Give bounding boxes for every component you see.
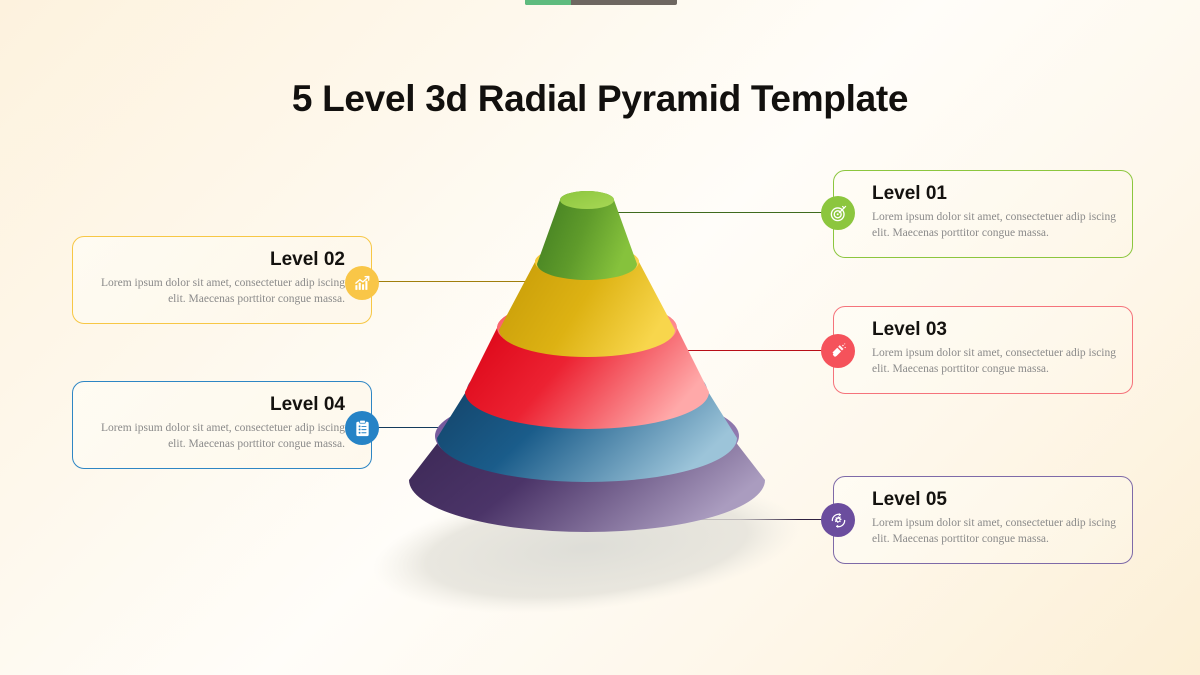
level-title-5: Level 05 — [872, 488, 1116, 512]
gear-refresh-icon[interactable] — [821, 503, 855, 537]
page-title: 5 Level 3d Radial Pyramid Template — [0, 78, 1200, 120]
level-card-5[interactable]: Level 05 Lorem ipsum dolor sit amet, con… — [833, 476, 1133, 564]
level-card-1[interactable]: Level 01 Lorem ipsum dolor sit amet, con… — [833, 170, 1133, 258]
target-icon[interactable] — [821, 196, 855, 230]
level-card-3[interactable]: Level 03 Lorem ipsum dolor sit amet, con… — [833, 306, 1133, 394]
level-title-2: Level 02 — [89, 248, 345, 272]
top-progress-bar — [525, 0, 677, 5]
pyramid-layer-1 — [537, 191, 637, 280]
level-description-1: Lorem ipsum dolor sit amet, consectetuer… — [872, 209, 1116, 242]
level-card-4[interactable]: Level 04 Lorem ipsum dolor sit amet, con… — [72, 381, 372, 469]
progress-fill — [525, 0, 571, 5]
level-title-1: Level 01 — [872, 182, 1116, 206]
level-title-3: Level 03 — [872, 318, 1116, 342]
level-title-4: Level 04 — [89, 393, 345, 417]
clipboard-checklist-icon[interactable] — [345, 411, 379, 445]
level-description-5: Lorem ipsum dolor sit amet, consectetuer… — [872, 515, 1116, 548]
radial-pyramid-graphic — [355, 150, 835, 610]
level-description-4: Lorem ipsum dolor sit amet, consectetuer… — [89, 420, 345, 453]
level-description-2: Lorem ipsum dolor sit amet, consectetuer… — [89, 275, 345, 308]
megaphone-icon[interactable] — [821, 334, 855, 368]
level-card-2[interactable]: Level 02 Lorem ipsum dolor sit amet, con… — [72, 236, 372, 324]
bar-chart-growth-icon[interactable] — [345, 266, 379, 300]
level-description-3: Lorem ipsum dolor sit amet, consectetuer… — [872, 345, 1116, 378]
